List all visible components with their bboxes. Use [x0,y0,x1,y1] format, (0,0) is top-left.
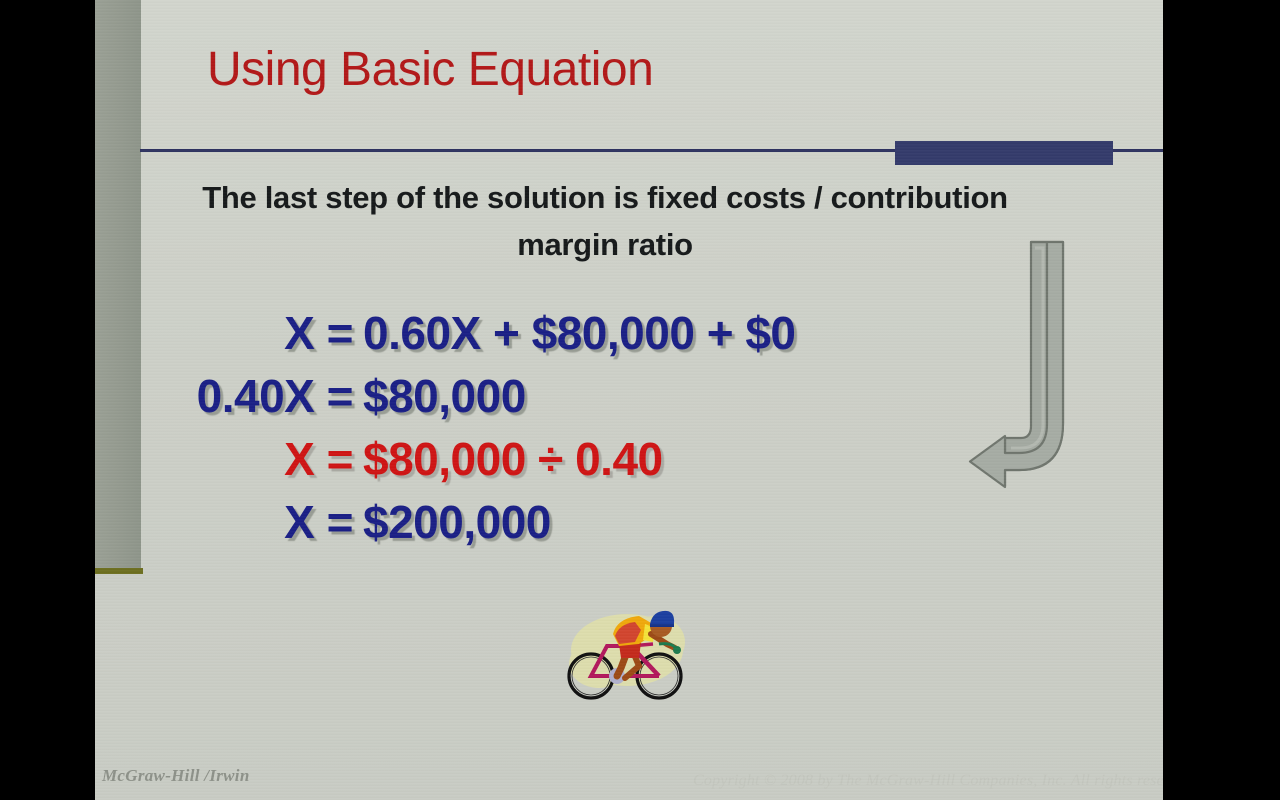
presentation-screenshot: Using Basic Equation The last step of th… [0,0,1280,800]
left-band-olive-rule [95,568,143,574]
footer-copyright: Copyright © 2008 by The McGraw-Hill Comp… [693,772,1163,790]
equation-rhs: $80,000 [363,369,526,423]
cyclist-clipart-icon [555,600,695,708]
header-accent-bar [895,141,1113,165]
equation-rhs: $200,000 [363,495,551,549]
equation-rhs: $80,000 ÷ 0.40 [363,432,663,486]
equation-row: X = $200,000 [95,495,1163,558]
slide-canvas: Using Basic Equation The last step of th… [95,0,1163,800]
slide-title: Using Basic Equation [207,42,653,98]
equation-lhs: X = [95,432,363,486]
footer-brand: McGraw-Hill /Irwin [102,766,250,786]
equation-lhs: 0.40X = [95,369,363,423]
equation-lhs: X = [95,306,363,360]
slide-subtitle: The last step of the solution is fixed c… [155,174,1055,268]
equation-lhs: X = [95,495,363,549]
curved-down-left-arrow-icon [965,238,1080,493]
equation-rhs: 0.60X + $80,000 + $0 [363,306,796,360]
